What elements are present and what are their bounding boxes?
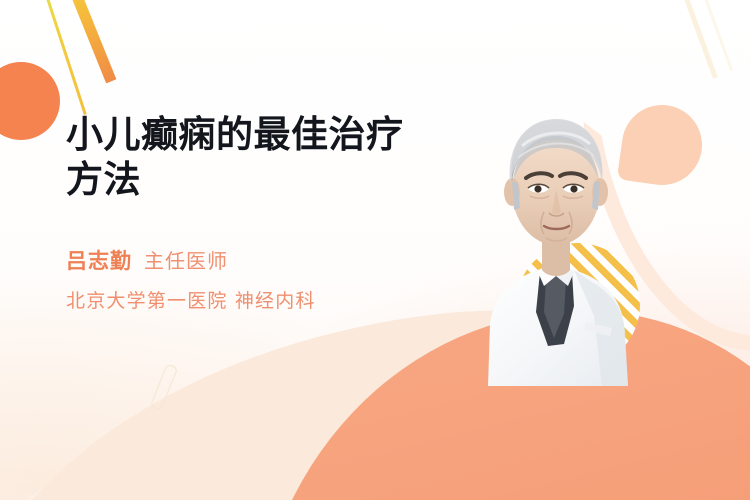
speaker-name: 吕志勤 — [66, 245, 132, 275]
speaker-affiliation: 北京大学第一医院 神经内科 — [66, 286, 316, 313]
speaker-title: 主任医师 — [144, 245, 228, 274]
poster-canvas: 小儿癫痫的最佳治疗方法 吕志勤 主任医师 北京大学第一医院 神经内科 — [0, 0, 750, 500]
page-title: 小儿癫痫的最佳治疗方法 — [66, 112, 426, 202]
speaker-byline: 吕志勤 主任医师 — [66, 245, 228, 275]
headline-block: 小儿癫痫的最佳治疗方法 — [66, 112, 426, 202]
doctor-portrait — [452, 86, 660, 386]
